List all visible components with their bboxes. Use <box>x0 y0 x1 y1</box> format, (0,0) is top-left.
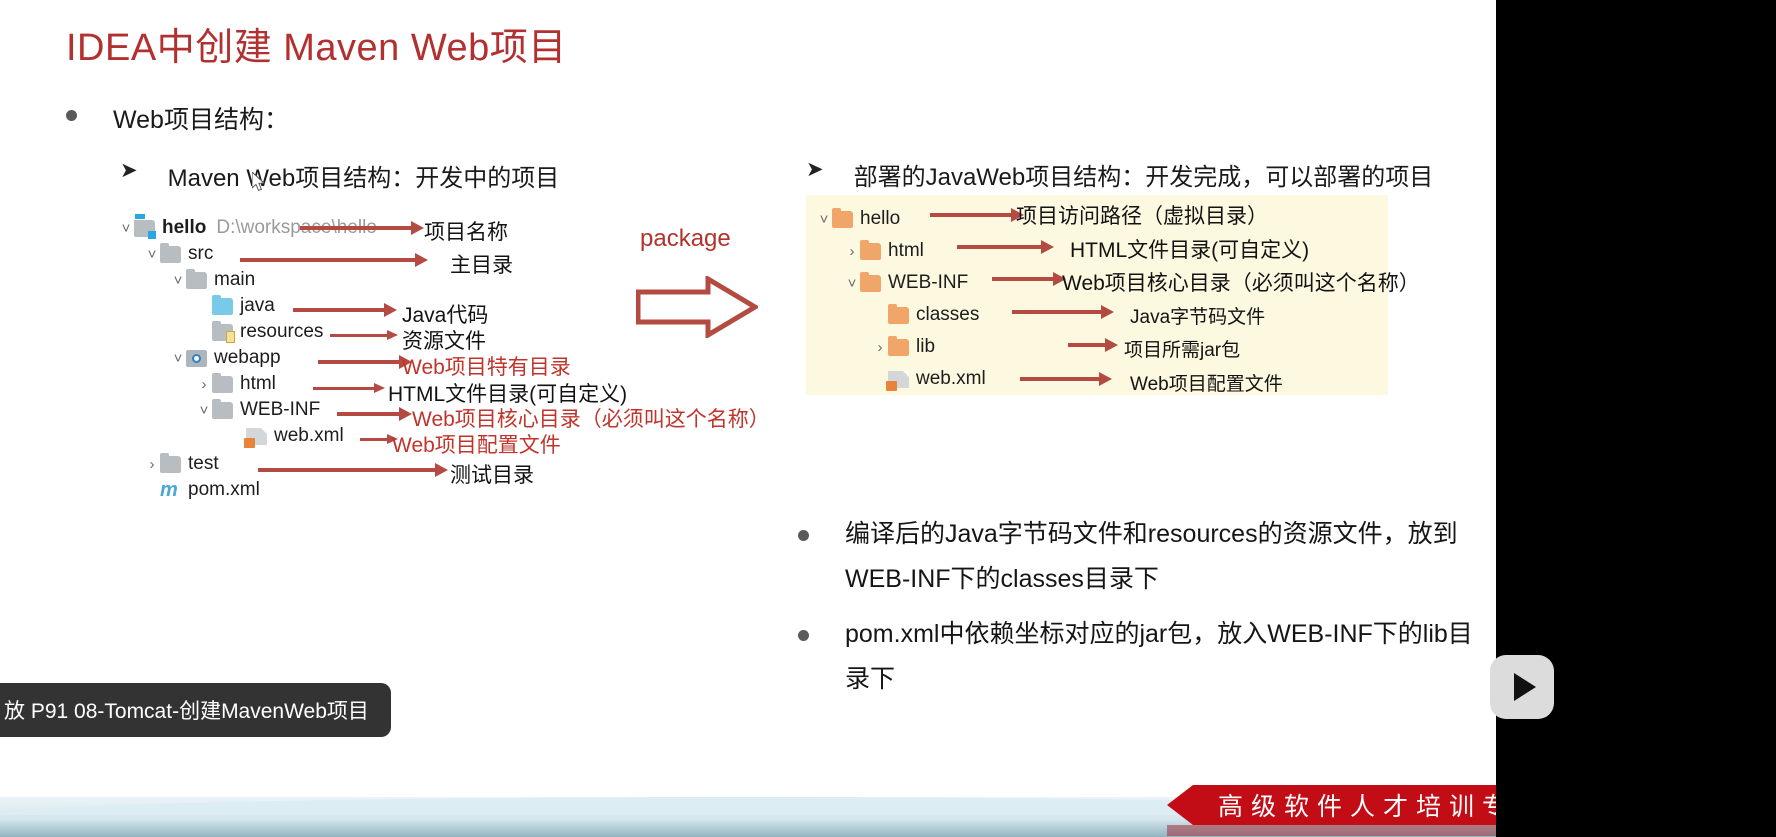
annotation-arrow <box>318 360 400 364</box>
tree-row-label: pom.xml <box>188 479 260 501</box>
bullet-web-structure: Web项目结构： <box>66 100 289 136</box>
folder-grey-icon <box>212 402 233 419</box>
tree-row-label: test <box>188 453 219 475</box>
annotation-arrow <box>313 387 375 390</box>
annotation-arrow <box>258 468 436 472</box>
note-bullet-lib: pom.xml中依赖坐标对应的jar包，放入WEB-INF下的lib目录下 <box>798 612 1485 702</box>
tree-row-label: html <box>888 240 924 262</box>
tree-row-label: WEB-INF <box>240 399 320 421</box>
chevron-down-icon[interactable]: ˅ <box>196 403 212 418</box>
annotation-arrow <box>1012 310 1102 314</box>
folder-resources-icon <box>212 324 233 341</box>
annotation-arrow <box>992 277 1054 281</box>
tree-row-pom-xml[interactable]: ˅ m pom.xml <box>144 477 377 503</box>
triangle-bullet-icon: ➤ <box>806 157 824 182</box>
tree-row-java[interactable]: ˅ java <box>196 293 377 319</box>
folder-orange-icon <box>860 243 881 260</box>
chevron-down-icon[interactable]: ˅ <box>170 351 186 366</box>
chevron-down-icon[interactable]: ˅ <box>844 276 860 291</box>
folder-blue-icon <box>212 298 233 315</box>
annotation-label: Web项目特有目录 <box>402 351 571 381</box>
annotation-label: 项目访问路径（虚拟目录） <box>1016 200 1268 230</box>
tree-row-hello[interactable]: ˅ hello <box>816 203 986 235</box>
left-tree-heading: ➤ Maven Web项目结构：开发中的项目 <box>120 158 559 193</box>
annotation-arrow <box>240 258 416 262</box>
tree-row-label: html <box>240 373 276 395</box>
annotation-arrow <box>300 226 412 230</box>
annotation-arrow <box>1068 343 1106 347</box>
annotation-arrow <box>293 308 385 312</box>
tree-row-label: resources <box>240 321 323 343</box>
deployed-project-tree: ˅ hello › html ˅ WEB-INF ˅ classes › lib… <box>816 203 986 395</box>
note-bullet-label: pom.xml中依赖坐标对应的jar包，放入WEB-INF下的lib目录下 <box>845 612 1485 702</box>
brand-banner: 高级软件人才培训专家 <box>1193 785 1496 825</box>
annotation-arrow <box>1020 377 1100 381</box>
bullet-dot-icon <box>798 530 809 541</box>
tree-row-label: WEB-INF <box>888 272 968 294</box>
mouse-cursor-icon <box>252 172 266 192</box>
tree-row-html[interactable]: › html <box>844 235 986 267</box>
annotation-arrow <box>360 438 388 441</box>
bullet-dot-icon <box>66 110 77 121</box>
tree-row-label: main <box>214 269 255 291</box>
annotation-label: Web项目配置文件 <box>392 429 561 459</box>
chevron-right-icon[interactable]: › <box>196 377 212 392</box>
xml-file-icon <box>246 428 267 445</box>
tree-row-webapp[interactable]: ˅ webapp <box>170 345 377 371</box>
maven-m-icon: m <box>160 482 181 499</box>
chevron-right-icon[interactable]: › <box>144 457 160 472</box>
tree-row-label: java <box>240 295 275 317</box>
right-tree-heading-label: 部署的JavaWeb项目结构：开发完成，可以部署的项目 <box>854 157 1434 192</box>
tree-row-classes[interactable]: ˅ classes <box>872 299 986 331</box>
xml-file-icon <box>888 371 909 388</box>
tree-row-web-inf[interactable]: ˅ WEB-INF <box>844 267 986 299</box>
tree-row-label: hello <box>162 217 206 239</box>
tree-row-test[interactable]: › test <box>144 451 377 477</box>
tree-row-resources[interactable]: ˅ resources <box>196 319 377 345</box>
module-icon <box>134 220 155 237</box>
annotation-label: HTML文件目录(可自定义) <box>1070 234 1309 264</box>
page-title: IDEA中创建 Maven Web项目 <box>66 16 567 71</box>
folder-orange-icon <box>860 275 881 292</box>
annotation-label: 主目录 <box>450 249 513 279</box>
playback-toast-label: 放 P91 08-Tomcat-创建MavenWeb项目 <box>4 700 369 723</box>
chevron-right-icon[interactable]: › <box>844 244 860 259</box>
webapp-icon <box>186 350 207 367</box>
tree-row-label: web.xml <box>274 425 344 447</box>
folder-orange-icon <box>832 211 853 228</box>
playback-toast: 放 P91 08-Tomcat-创建MavenWeb项目 <box>0 683 391 737</box>
folder-grey-icon <box>160 456 181 473</box>
tree-row-label: hello <box>860 208 900 230</box>
annotation-label: 测试目录 <box>450 459 534 489</box>
tree-row-main[interactable]: ˅ main <box>170 267 377 293</box>
right-tree-heading: ➤ 部署的JavaWeb项目结构：开发完成，可以部署的项目 <box>806 157 1433 192</box>
annotation-label: Web项目配置文件 <box>1130 369 1283 396</box>
folder-grey-icon <box>186 272 207 289</box>
note-bullet-label: 编译后的Java字节码文件和resources的资源文件，放到WEB-INF下的… <box>845 512 1485 602</box>
tree-row-html[interactable]: › html <box>196 371 377 397</box>
package-arrow-icon <box>636 276 758 338</box>
bullet-web-structure-label: Web项目结构： <box>113 100 289 136</box>
tree-row-label: lib <box>916 336 935 358</box>
brand-banner-label: 高级软件人才培训专家 <box>1218 787 1496 823</box>
play-button[interactable] <box>1490 655 1554 719</box>
annotation-arrow <box>957 245 1042 249</box>
annotation-arrow <box>930 213 1012 217</box>
tree-row-web-xml[interactable]: ˅ web.xml <box>872 363 986 395</box>
folder-orange-icon <box>888 339 909 356</box>
annotation-label: Web项目核心目录（必须叫这个名称） <box>1062 267 1420 297</box>
tree-row-label: src <box>188 243 213 265</box>
annotation-arrow <box>337 412 400 416</box>
triangle-bullet-icon: ➤ <box>120 158 138 183</box>
chevron-down-icon[interactable]: ˅ <box>816 212 832 227</box>
annotation-label: Java字节码文件 <box>1130 302 1265 329</box>
chevron-right-icon[interactable]: › <box>872 340 888 355</box>
folder-orange-icon <box>888 307 909 324</box>
note-bullet-classes: 编译后的Java字节码文件和resources的资源文件，放到WEB-INF下的… <box>798 512 1485 602</box>
annotation-label: 项目所需jar包 <box>1124 335 1240 362</box>
tree-row-web-inf[interactable]: ˅ WEB-INF <box>196 397 377 423</box>
chevron-down-icon[interactable]: ˅ <box>118 221 134 236</box>
annotation-label: 项目名称 <box>424 216 508 246</box>
tree-row-web-xml[interactable]: ˅ web.xml <box>230 423 377 449</box>
bullet-dot-icon <box>798 630 809 641</box>
chevron-down-icon[interactable]: ˅ <box>170 273 186 288</box>
play-icon <box>1514 673 1536 701</box>
chevron-down-icon[interactable]: ˅ <box>144 247 160 262</box>
annotation-arrow <box>330 334 388 337</box>
tree-row-label: classes <box>916 304 979 326</box>
tree-row-label: webapp <box>214 347 281 369</box>
folder-grey-icon <box>212 376 233 393</box>
folder-grey-icon <box>160 246 181 263</box>
tree-row-label: web.xml <box>916 368 986 390</box>
tree-row-lib[interactable]: › lib <box>872 331 986 363</box>
tree-row-src[interactable]: ˅ src <box>144 241 377 267</box>
package-label: package <box>640 225 731 253</box>
left-tree-heading-label: Maven Web项目结构：开发中的项目 <box>168 158 560 193</box>
